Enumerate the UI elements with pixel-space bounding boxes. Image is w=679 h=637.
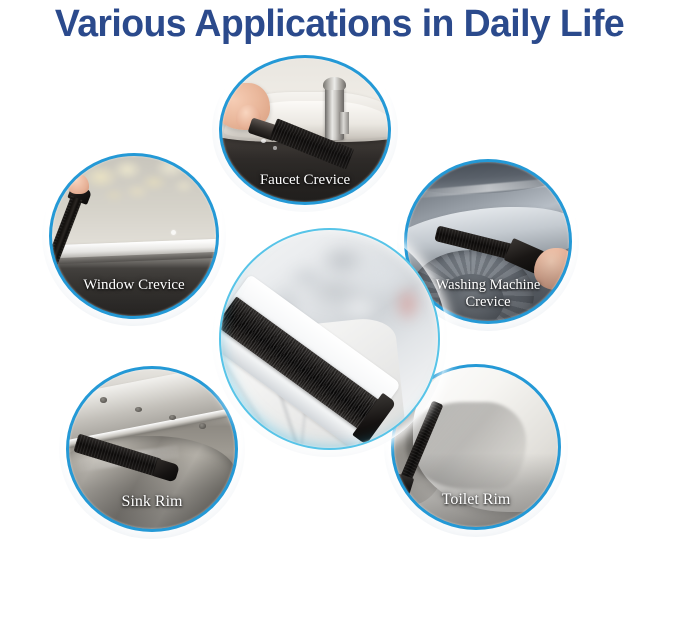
- faucet-crevice-photo: [221, 57, 389, 203]
- window-crevice-photo: [51, 155, 217, 317]
- sink-rim-photo: [68, 368, 236, 530]
- product-circle-center[interactable]: [219, 228, 440, 450]
- faucet-cap: [323, 77, 346, 90]
- hand: [534, 248, 570, 290]
- product-photo: [221, 230, 438, 448]
- application-circle-window-crevice[interactable]: Window Crevice: [49, 153, 219, 319]
- screw-hole: [199, 423, 206, 429]
- glass-highlight: [171, 230, 177, 236]
- water-droplet: [273, 146, 277, 150]
- faucet-spout: [339, 112, 348, 134]
- fingertip: [68, 174, 90, 193]
- application-circle-sink-rim[interactable]: Sink Rim: [66, 366, 238, 532]
- application-circle-faucet-crevice[interactable]: Faucet Crevice: [219, 55, 391, 205]
- screw-hole: [100, 397, 107, 403]
- page-title: Various Applications in Daily Life: [5, 2, 674, 46]
